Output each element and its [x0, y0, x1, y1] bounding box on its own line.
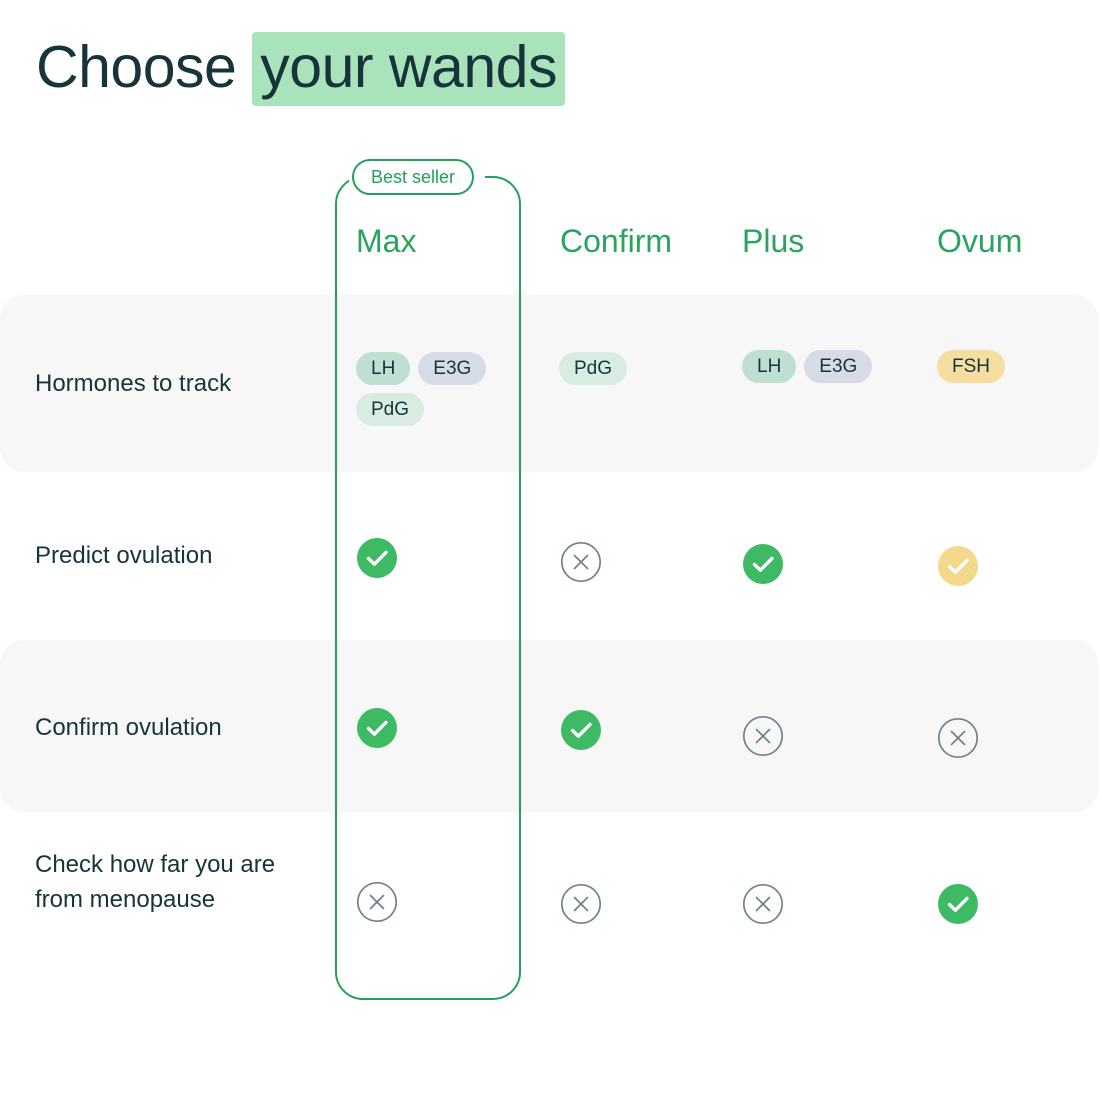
column-header-max[interactable]: Max [356, 220, 416, 262]
hormone-badge-e3g: E3G [418, 352, 486, 385]
status-icon-confirmovu-plus [742, 715, 784, 757]
page-title-plain: Choose [36, 34, 252, 100]
hormone-badge-fsh: FSH [937, 350, 1005, 383]
row-label-hormones-to-track: Hormones to track [35, 366, 315, 401]
status-icon-confirmovu-ovum [937, 717, 979, 759]
hormone-badge-lh: LH [356, 352, 410, 385]
hormone-badges-confirm: PdG [559, 352, 719, 385]
status-icon-menopause-max [356, 881, 398, 923]
column-header-confirm[interactable]: Confirm [560, 220, 672, 262]
status-icon-confirmovu-confirm [560, 709, 602, 751]
hormone-badge-pdg: PdG [559, 352, 627, 385]
hormone-badges-max: LHE3GPdG [356, 352, 506, 426]
page-title-highlight: your wands [252, 32, 565, 106]
status-icon-menopause-confirm [560, 883, 602, 925]
page-title: Choose your wands [36, 32, 565, 102]
best-seller-badge: Best seller [352, 159, 474, 195]
hormone-badges-ovum: FSH [937, 350, 1097, 383]
status-icon-confirmovu-max [356, 707, 398, 749]
hormone-badges-plus: LHE3G [742, 350, 902, 383]
hormone-badge-lh: LH [742, 350, 796, 383]
status-icon-menopause-plus [742, 883, 784, 925]
highlighted-column-card-max[interactable] [335, 176, 521, 1000]
best-seller-label: Best seller [371, 168, 455, 186]
status-icon-menopause-ovum [937, 883, 979, 925]
status-icon-predict-confirm [560, 541, 602, 583]
hormone-badge-pdg: PdG [356, 393, 424, 426]
status-icon-predict-ovum [937, 545, 979, 587]
column-header-ovum[interactable]: Ovum [937, 220, 1022, 262]
column-header-plus[interactable]: Plus [742, 220, 804, 262]
row-label-confirm-ovulation: Confirm ovulation [35, 710, 315, 745]
hormone-badge-e3g: E3G [804, 350, 872, 383]
row-label-check-menopause: Check how far you are from menopause [35, 847, 315, 917]
status-icon-predict-max [356, 537, 398, 579]
status-icon-predict-plus [742, 543, 784, 585]
comparison-page: Choose your wands Best seller Max Confir… [0, 0, 1100, 1100]
row-label-predict-ovulation: Predict ovulation [35, 538, 315, 573]
